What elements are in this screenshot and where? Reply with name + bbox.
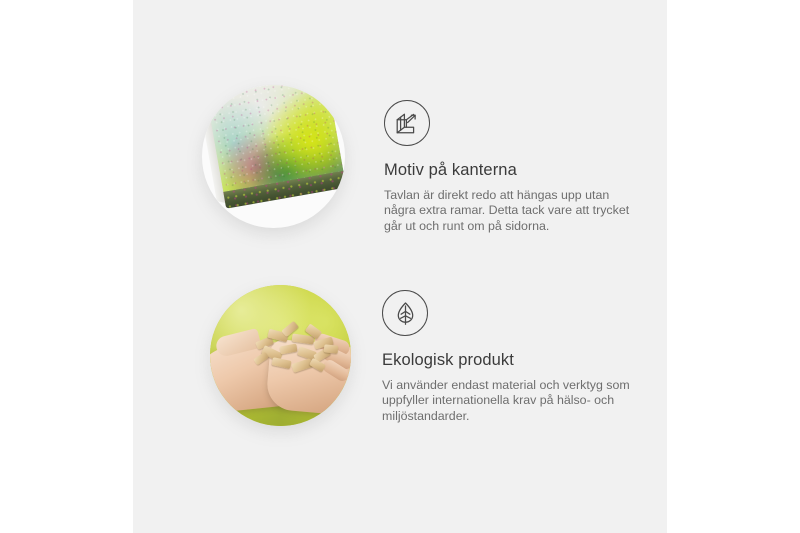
canvas-wrap-edge-icon xyxy=(384,100,430,146)
hands-holding-wood-chips-photo xyxy=(210,285,351,426)
feature-1-text-column: Motiv på kanterna Tavlan är direkt redo … xyxy=(384,60,656,234)
feature-2-image-wrap xyxy=(133,270,351,426)
leaf-icon xyxy=(382,290,428,336)
feature-block-ekologisk-produkt: Ekologisk produkt Vi använder endast mat… xyxy=(133,270,667,445)
canvas-print-artwork xyxy=(206,85,345,219)
wood-chips-pile xyxy=(252,321,340,373)
page-canvas: Motiv på kanterna Tavlan är direkt redo … xyxy=(0,0,800,533)
canvas-print-corner-photo xyxy=(202,85,345,228)
feature-2-title: Ekologisk produkt xyxy=(382,350,654,371)
feature-1-body: Tavlan är direkt redo att hängas upp uta… xyxy=(384,188,642,235)
feature-2-body: Vi använder endast material och verktyg … xyxy=(382,378,640,425)
feature-1-title: Motiv på kanterna xyxy=(384,160,656,181)
feature-1-image-wrap xyxy=(133,60,345,228)
feature-block-motiv-pa-kanterna: Motiv på kanterna Tavlan är direkt redo … xyxy=(133,60,667,260)
feature-2-text-column: Ekologisk produkt Vi använder endast mat… xyxy=(382,270,654,424)
